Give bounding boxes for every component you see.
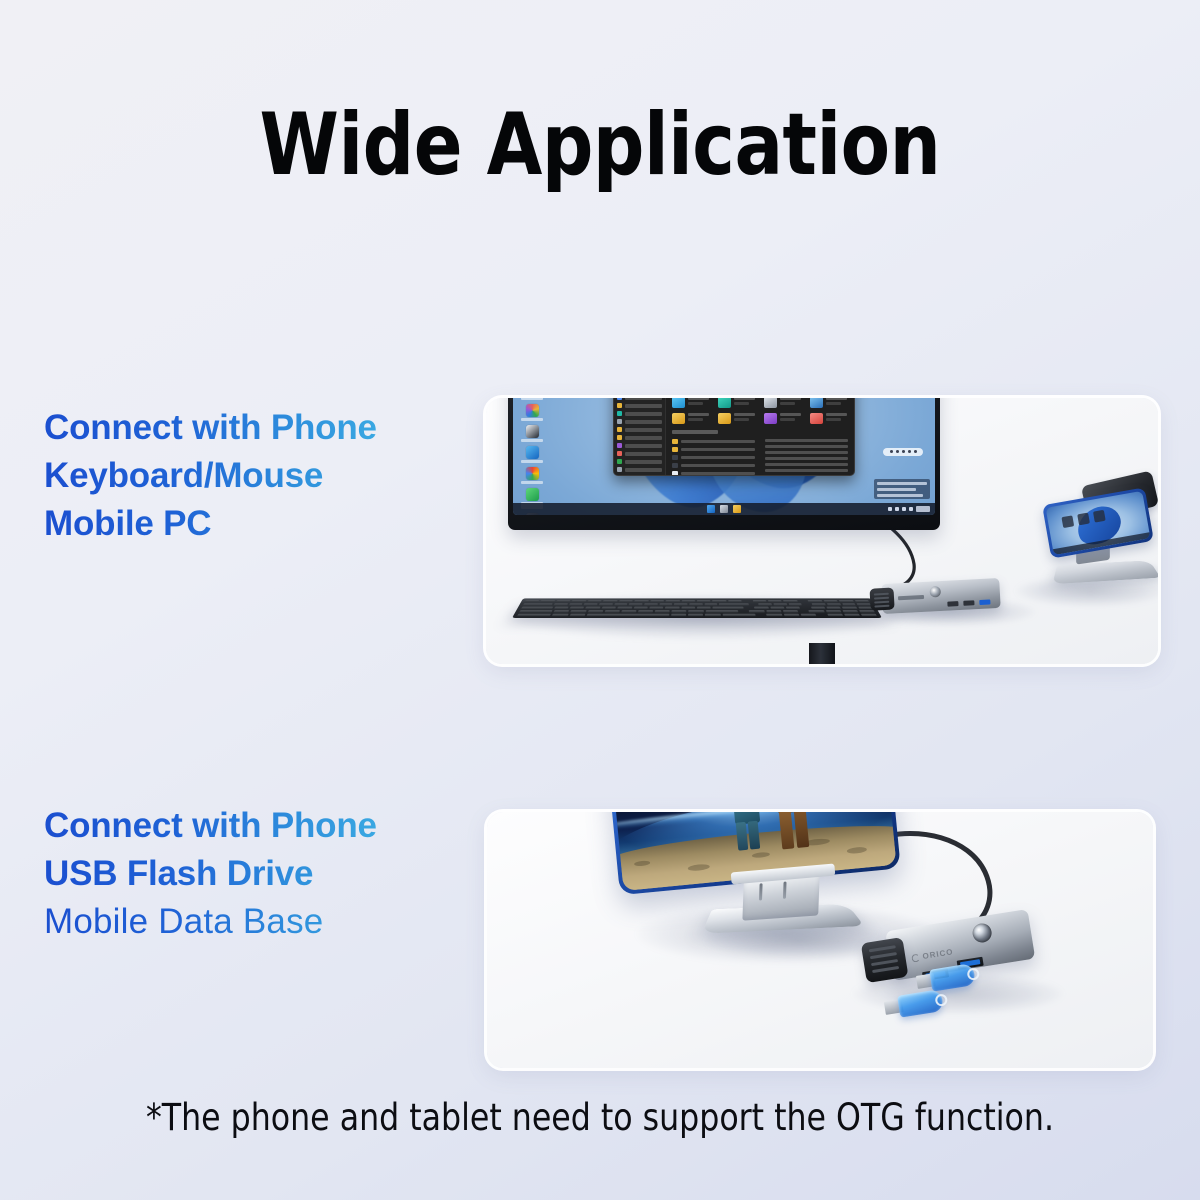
caption-line: USB Flash Drive: [44, 850, 377, 898]
monitor-bezel: [508, 398, 940, 530]
search-icon[interactable]: [720, 505, 728, 513]
caption-line: Mobile PC: [44, 500, 377, 548]
osd-button-icon[interactable]: [890, 450, 893, 453]
file-row[interactable]: [672, 471, 755, 476]
file-date: [765, 475, 848, 476]
network-icon[interactable]: [895, 507, 899, 511]
file-date: [765, 469, 848, 472]
file-row[interactable]: [672, 447, 755, 452]
nav-item[interactable]: [617, 403, 662, 408]
page-title: Wide Application: [42, 95, 1158, 195]
nav-item[interactable]: [617, 411, 662, 416]
caption-connect-with-phone-usb-flash-drive: Connect with Phone USB Flash Drive Mobil…: [44, 802, 377, 946]
desktop-icon[interactable]: [517, 404, 547, 421]
nav-item[interactable]: [617, 419, 662, 424]
keyboard-row: [523, 603, 871, 605]
monitor-stand-neck: [809, 643, 835, 664]
app-tile[interactable]: [1061, 515, 1074, 528]
keyboard-row: [525, 600, 870, 602]
file-row[interactable]: [672, 439, 755, 444]
recent-files-section-label: [672, 430, 718, 434]
scene-desktop-image: [486, 398, 1158, 664]
folder-tile[interactable]: [764, 398, 801, 408]
file-row[interactable]: [672, 463, 755, 468]
folder-tile[interactable]: [718, 398, 755, 408]
monitor-screen: [513, 398, 935, 515]
product-feature-page: Wide Application Connect with Phone Keyb…: [0, 0, 1200, 1200]
file-date: [765, 463, 848, 466]
usb-c-hub[interactable]: [881, 578, 1000, 614]
phone-screen[interactable]: [1046, 491, 1151, 555]
hub-end-cap: [870, 587, 895, 610]
keyboard[interactable]: [512, 598, 882, 618]
usb-a-port[interactable]: [963, 600, 974, 606]
keyboard-row: [517, 614, 877, 616]
file-date: [765, 445, 848, 448]
orico-mark-icon: [911, 953, 920, 962]
file-row[interactable]: [672, 455, 755, 460]
osd-button-icon[interactable]: [896, 450, 899, 453]
scene-flash-drive-image: ORICO: [487, 812, 1153, 1068]
footnote-otg-requirement: *The phone and tablet need to support th…: [30, 1096, 1170, 1139]
caption-line: Connect with Phone: [44, 802, 377, 850]
desktop-icon-column: [517, 398, 547, 515]
app-tile[interactable]: [1077, 512, 1090, 525]
recent-files-list: [672, 439, 848, 476]
astronaut: [764, 812, 823, 852]
windows-taskbar[interactable]: [513, 503, 935, 515]
monitor: [508, 398, 940, 530]
volume-icon[interactable]: [902, 507, 906, 511]
monitor-osd-controls[interactable]: [883, 448, 923, 456]
scene-panel-flash-drive: ORICO: [487, 812, 1153, 1068]
caption-line: Mobile Data Base: [44, 898, 377, 946]
taskbar-clock[interactable]: [916, 506, 930, 512]
system-tray[interactable]: [888, 506, 930, 512]
nav-item[interactable]: [617, 398, 662, 400]
folder-tile[interactable]: [672, 398, 709, 408]
folding-stand: [709, 872, 857, 942]
phone[interactable]: [1042, 487, 1154, 558]
nav-item[interactable]: [617, 451, 662, 456]
folder-tile[interactable]: [672, 413, 709, 424]
chevron-up-icon[interactable]: [888, 507, 892, 511]
nav-item[interactable]: [617, 427, 662, 432]
desktop-icon[interactable]: [517, 398, 547, 400]
nav-item[interactable]: [617, 475, 662, 476]
keyboard-row: [521, 607, 873, 609]
quick-access-tiles: [672, 398, 848, 424]
nav-item[interactable]: [617, 467, 662, 472]
recent-files-column: [672, 439, 755, 476]
nav-item[interactable]: [617, 459, 662, 464]
caption-connect-with-phone-keyboard-mouse: Connect with Phone Keyboard/Mouse Mobile…: [44, 404, 377, 548]
folder-tile[interactable]: [718, 413, 755, 424]
folder-tile[interactable]: [810, 398, 847, 408]
keyboard-row: [519, 610, 875, 612]
nav-item[interactable]: [617, 435, 662, 440]
osd-power-icon[interactable]: [914, 450, 917, 453]
osd-button-icon[interactable]: [908, 450, 911, 453]
file-date: [765, 457, 848, 460]
battery-icon[interactable]: [909, 507, 913, 511]
file-date: [765, 439, 848, 442]
folder-tile[interactable]: [810, 413, 847, 424]
file-explorer-icon[interactable]: [733, 505, 741, 513]
explorer-navigation-pane[interactable]: [614, 398, 666, 476]
desktop-icon[interactable]: [517, 446, 547, 463]
explorer-body: [614, 398, 854, 476]
usb-a-port[interactable]: [947, 601, 958, 607]
phone-on-stand: [1026, 478, 1158, 608]
caption-line: Connect with Phone: [44, 404, 377, 452]
explorer-content-pane[interactable]: [666, 398, 854, 476]
app-tile[interactable]: [1093, 509, 1106, 522]
nav-item[interactable]: [617, 443, 662, 448]
scene-panel-desktop: [486, 398, 1158, 664]
file-date: [765, 451, 848, 454]
file-explorer-window[interactable]: [613, 398, 855, 476]
recent-files-column: [765, 439, 848, 476]
hub-end-cap: [861, 937, 909, 983]
desktop-icon[interactable]: [517, 467, 547, 484]
start-button-icon[interactable]: [707, 505, 715, 513]
usb-3-port[interactable]: [979, 599, 990, 605]
desktop-icon[interactable]: [517, 425, 547, 442]
folder-tile[interactable]: [764, 413, 801, 424]
stand-base-plate: [1052, 560, 1158, 584]
activate-windows-watermark: [874, 479, 930, 499]
osd-button-icon[interactable]: [902, 450, 905, 453]
caption-line: Keyboard/Mouse: [44, 452, 377, 500]
astronaut: [724, 812, 771, 852]
